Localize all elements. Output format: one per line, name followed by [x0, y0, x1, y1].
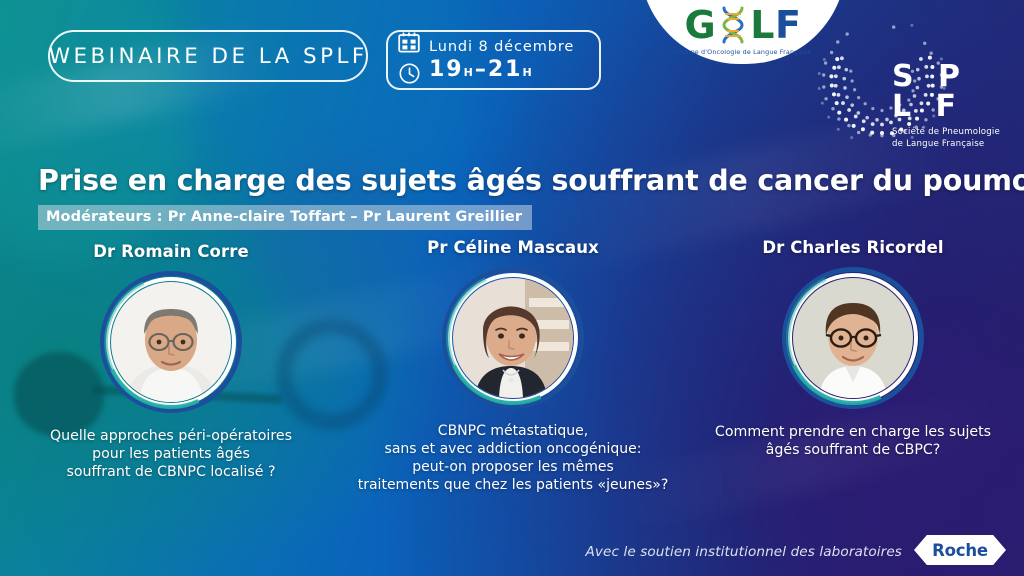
speaker-card-2: Dr Charles Ricordel: [690, 238, 1016, 459]
avatar: [442, 267, 584, 409]
golf-letter-g: G: [685, 6, 717, 44]
time-start: 19: [429, 58, 464, 82]
golf-tagline: Groupe d'Oncologie de Langue Française: [675, 48, 812, 56]
date-time-text: Lundi 8 décembre 19H – 21H: [429, 38, 574, 82]
date-time-badge: Lundi 8 décembre 19H – 21H: [386, 30, 601, 90]
clock-icon: [399, 63, 420, 89]
golf-letter-f: F: [775, 6, 801, 44]
webinar-poster: WEBINAIRE DE LA SPLF: [0, 0, 1024, 576]
speaker-card-1: Pr Céline Mascaux: [348, 238, 678, 495]
roche-logo-label: Roche: [932, 541, 988, 560]
calendar-icon: [398, 32, 420, 58]
speaker-topic: CBNPC métastatique, sans et avec addicti…: [348, 423, 678, 495]
speaker-card-0: Dr Romain Corre: [8, 242, 334, 482]
roche-logo: Roche: [914, 535, 1006, 565]
webinar-badge-label: WEBINAIRE DE LA SPLF: [49, 44, 368, 68]
golf-dna-helix-icon: [716, 6, 750, 44]
avatar: [100, 271, 242, 413]
splf-letters: S P L F: [892, 62, 1006, 122]
splf-logo: S P L F Société de Pneumologie de Langue…: [806, 22, 1006, 140]
splf-subtitle-line1: Société de Pneumologie: [892, 127, 1006, 139]
splf-wordmark: S P L F Société de Pneumologie de Langue…: [892, 62, 1006, 150]
moderators-bar: Modérateurs : Pr Anne-claire Toffart – P…: [38, 205, 532, 230]
date-time-icons: [398, 32, 420, 89]
golf-wordmark: G L F: [685, 6, 802, 44]
time-start-sup: H: [464, 67, 475, 79]
speaker-name: Dr Charles Ricordel: [690, 238, 1016, 257]
avatar-accent-ring: [767, 252, 939, 424]
speaker-topic: Comment prendre en charge les sujets âgé…: [690, 423, 1016, 459]
speaker-topic: Quelle approches péri-opératoires pour l…: [8, 427, 334, 482]
time-label: 19H – 21H: [429, 58, 574, 82]
page-title: Prise en charge des sujets âgés souffran…: [38, 164, 998, 197]
webinar-badge: WEBINAIRE DE LA SPLF: [48, 30, 368, 82]
time-separator: –: [475, 58, 488, 82]
date-label: Lundi 8 décembre: [429, 38, 574, 58]
avatar-accent-ring: [85, 256, 257, 428]
splf-subtitle-line2: de Langue Française: [892, 139, 1006, 151]
avatar-accent-ring: [427, 252, 599, 424]
sponsor-text: Avec le soutien institutionnel des labor…: [585, 544, 902, 560]
time-end-sup: H: [522, 67, 533, 79]
speaker-name: Dr Romain Corre: [8, 242, 334, 261]
footer: Avec le soutien institutionnel des labor…: [0, 530, 1024, 576]
splf-subtitle: Société de Pneumologie de Langue Françai…: [892, 127, 1006, 150]
speaker-name: Pr Céline Mascaux: [348, 238, 678, 257]
time-end: 21: [488, 58, 523, 82]
avatar: [782, 267, 924, 409]
golf-letter-l: L: [750, 6, 775, 44]
